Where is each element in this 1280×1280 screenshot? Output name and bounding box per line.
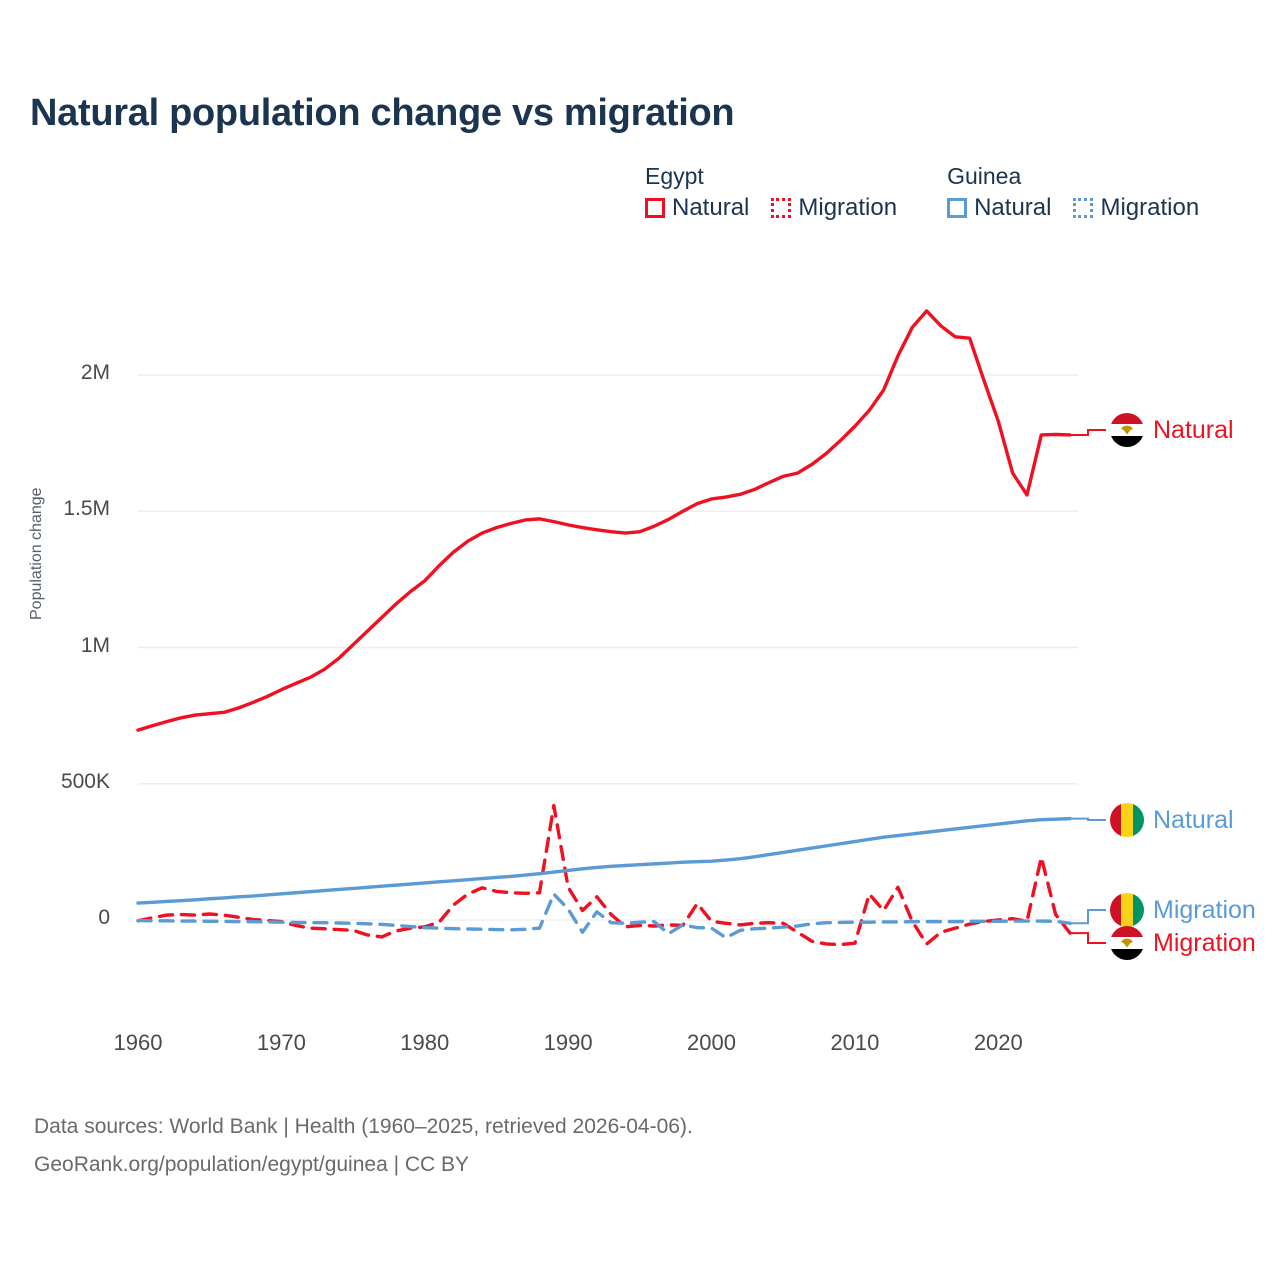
x-tick-label: 1960 [83, 1030, 193, 1056]
footer-attribution: GeoRank.org/population/egypt/guinea | CC… [34, 1146, 693, 1184]
y-tick-label: 500K [0, 770, 110, 794]
end-label-text: Natural [1153, 416, 1234, 445]
y-tick-label: 1M [0, 634, 110, 658]
footer: Data sources: World Bank | Health (1960–… [34, 1108, 693, 1184]
x-tick-label: 2020 [943, 1030, 1053, 1056]
end-label-text: Natural [1153, 806, 1234, 835]
end-label-guinea-migration: Migration [1110, 893, 1256, 927]
footer-sources: Data sources: World Bank | Health (1960–… [34, 1108, 693, 1146]
x-tick-label: 1980 [370, 1030, 480, 1056]
chart-page: Natural population change vs migration E… [0, 0, 1280, 1280]
egypt-flag-icon [1110, 413, 1144, 447]
end-label-guinea-natural: Natural [1110, 803, 1234, 837]
x-tick-label: 2000 [657, 1030, 767, 1056]
end-label-egypt-natural: Natural [1110, 413, 1234, 447]
series-line-guinea-migration [138, 894, 1070, 938]
chart-svg [0, 0, 1280, 1280]
plot-area [0, 0, 1280, 1280]
y-tick-label: 1.5M [0, 497, 110, 521]
guinea-flag-icon [1110, 893, 1144, 927]
end-label-text: Migration [1153, 929, 1256, 958]
y-tick-label: 2M [0, 361, 110, 385]
series-line-egypt-natural [138, 311, 1070, 730]
egypt-flag-icon [1110, 926, 1144, 960]
series-line-guinea-natural [138, 819, 1070, 903]
y-tick-label: 0 [0, 906, 110, 930]
x-tick-label: 1970 [226, 1030, 336, 1056]
x-tick-label: 1990 [513, 1030, 623, 1056]
end-label-egypt-migration: Migration [1110, 926, 1256, 960]
end-label-text: Migration [1153, 896, 1256, 925]
guinea-flag-icon [1110, 803, 1144, 837]
x-tick-label: 2010 [800, 1030, 910, 1056]
